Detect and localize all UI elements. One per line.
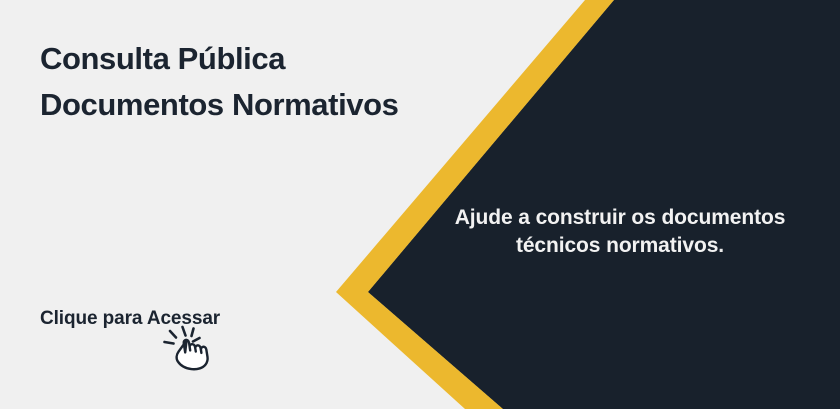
page-title-line-2: Documentos Normativos — [40, 82, 460, 128]
panel-message-line-1: Ajude a construir os documentos — [455, 206, 786, 229]
page-title: Consulta Pública Documentos Normativos — [40, 36, 460, 128]
panel-message-line-2: técnicos normativos — [516, 234, 718, 257]
page-title-line-1: Consulta Pública — [40, 36, 460, 82]
right-content-column: Ajude a construir os documentos técnicos… — [430, 204, 810, 260]
click-hand-cursor-icon — [162, 324, 220, 376]
call-to-action-block[interactable]: Clique para Acessar — [40, 306, 300, 386]
consulta-publica-banner[interactable]: Consulta Pública Documentos Normativos C… — [0, 0, 840, 409]
left-content-column: Consulta Pública Documentos Normativos C… — [40, 0, 460, 409]
panel-message-period: . — [718, 234, 724, 257]
panel-message: Ajude a construir os documentos técnicos… — [430, 204, 810, 260]
